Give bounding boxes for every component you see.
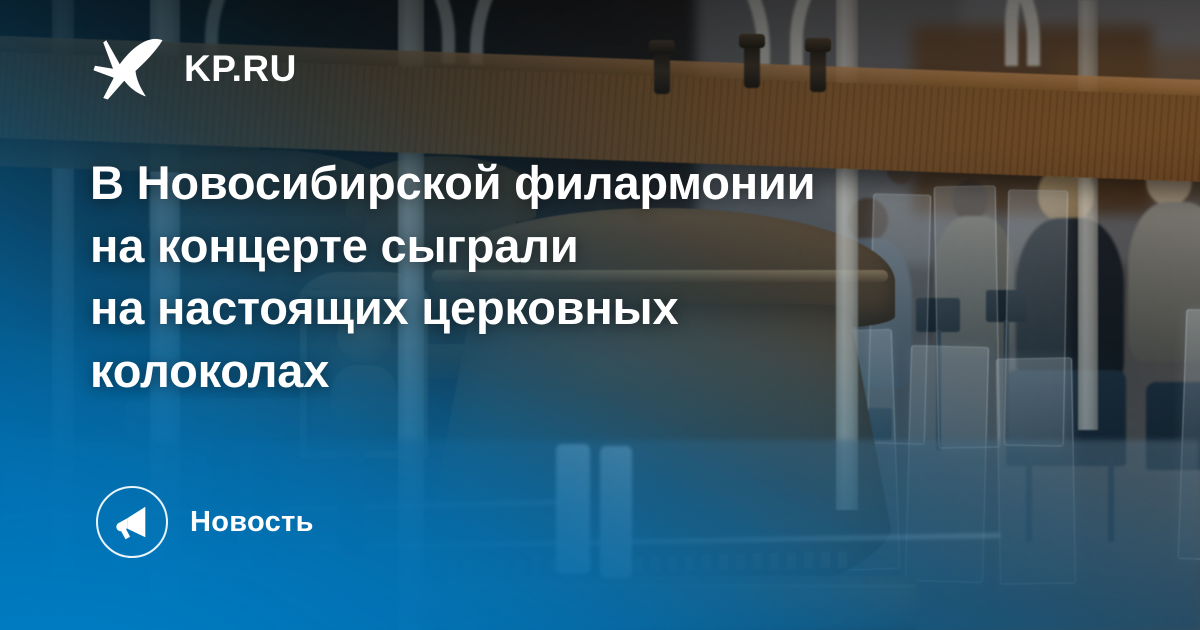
site-logo[interactable]: KP.RU	[90, 35, 297, 101]
content-type-badge[interactable]: Новость	[96, 486, 314, 558]
headline-line: колоколах	[90, 340, 1100, 403]
megaphone-icon	[113, 503, 151, 541]
headline-line: на настоящих церковных	[90, 277, 1100, 340]
logo-text: KP.RU	[184, 50, 297, 87]
badge-icon-circle	[96, 486, 168, 558]
badge-label: Новость	[190, 506, 314, 539]
card-content: KP.RU В Новосибирской филармонии на конц…	[0, 0, 1200, 630]
headline: В Новосибирской филармонии на концерте с…	[90, 152, 1100, 402]
headline-line: на концерте сыграли	[90, 215, 1100, 278]
social-share-card: KP.RU В Новосибирской филармонии на конц…	[0, 0, 1200, 630]
headline-line: В Новосибирской филармонии	[90, 152, 1100, 215]
swallow-bird-icon	[90, 35, 166, 101]
